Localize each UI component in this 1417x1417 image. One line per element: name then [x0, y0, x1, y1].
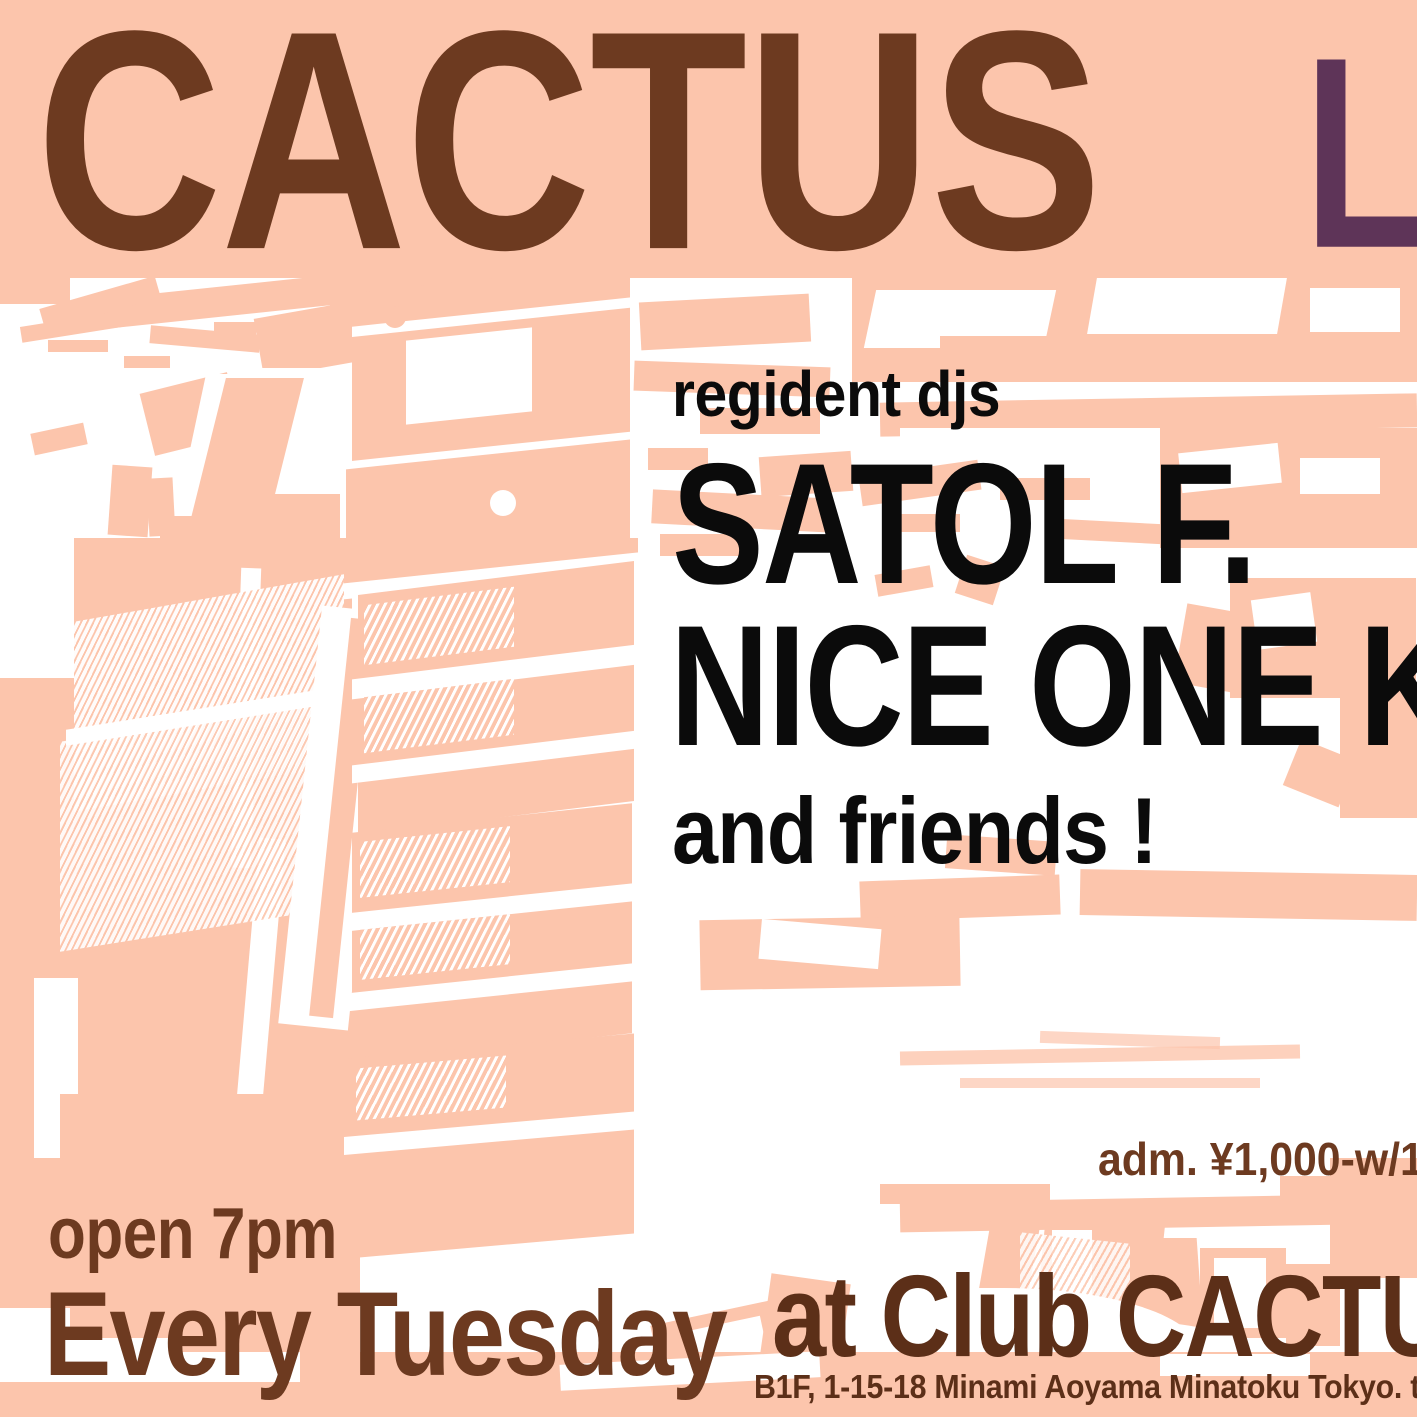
lineup-label: regident djs — [672, 362, 1000, 426]
admission-price: adm. ¥1,000-w/1D — [1098, 1136, 1417, 1182]
lineup-and-friends: and friends ! — [672, 784, 1157, 878]
event-frequency: Every Tuesday — [44, 1274, 726, 1394]
venue-address: B1F, 1-15-18 Minami Aoyama Minatoku Toky… — [754, 1370, 1417, 1403]
brand-lounge: Lounge — [1304, 18, 1417, 278]
poster-header: CACTUS Lounge — [0, 0, 1417, 278]
dj-name-nice-one-kaz: NICE ONE KAZ — [670, 600, 1417, 772]
flyer-poster: CACTUS Lounge regident djs SATOL F. NICE… — [0, 0, 1417, 1417]
brand-cactus: CACTUS — [36, 0, 1101, 278]
venue-name: at Club CACTUS — [772, 1258, 1417, 1374]
dj-name-satol-f: SATOL F. — [672, 438, 1256, 610]
open-time: open 7pm — [48, 1198, 337, 1270]
